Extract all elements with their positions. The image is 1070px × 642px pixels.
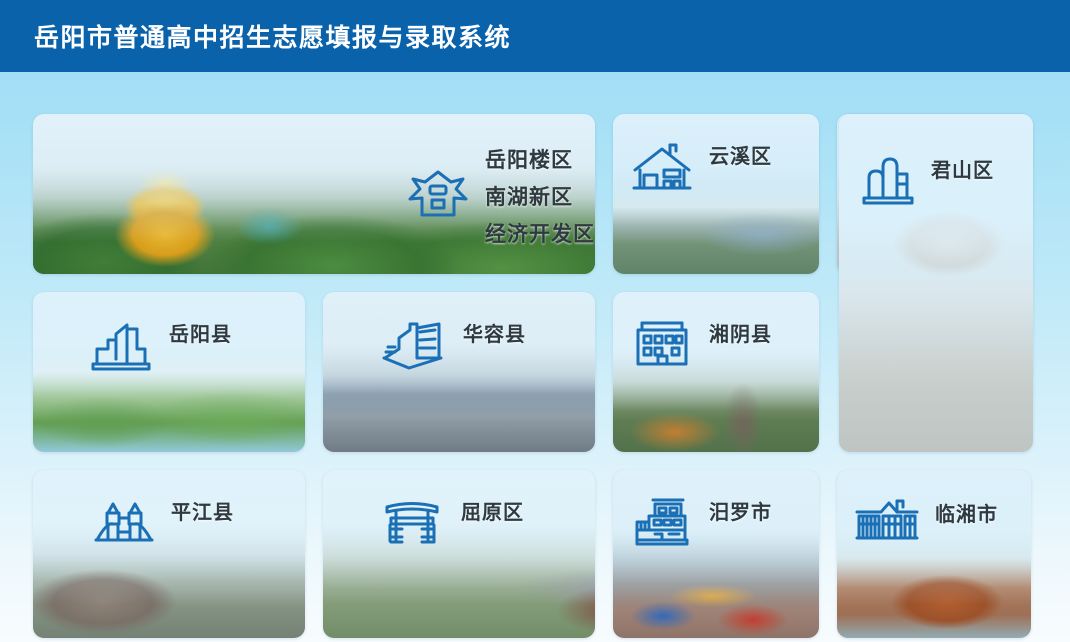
region-card-content: 湘阴县 [613,292,819,452]
page-title: 岳阳市普通高中招生志愿填报与录取系统 [34,18,511,54]
region-card-quyuan[interactable]: 屈原区 [323,470,595,638]
region-card-content: 临湘市 [837,470,1031,638]
house-icon [631,140,693,196]
region-label: 湘阴县 [709,318,772,347]
region-label: 岳阳县 [169,318,232,347]
region-label: 经济开发区 [485,218,595,248]
region-label-group: 岳阳楼区 南湖新区 经济开发区 [485,144,595,248]
region-card-content: 屈原区 [323,470,595,638]
region-label: 平江县 [171,496,234,525]
region-card-content: 汨罗市 [613,470,819,638]
region-card-yunxi[interactable]: 云溪区 [613,114,819,274]
region-card-miluo[interactable]: 汨罗市 [613,470,819,638]
industrial-building-icon [379,318,447,374]
region-card-linxiang[interactable]: 临湘市 [837,470,1031,638]
region-label-group: 屈原区 [461,496,524,525]
monument-stone-icon [861,154,915,206]
region-card-content: 平江县 [33,470,305,638]
region-card-content: 君山区 [839,114,1033,452]
region-label: 君山区 [931,154,994,183]
region-label: 屈原区 [461,496,524,525]
region-card-junshan-tall[interactable]: 君山区 [839,114,1033,452]
region-label: 汨罗市 [709,496,772,525]
region-label-group: 华容县 [463,318,526,347]
region-label: 云溪区 [709,140,772,169]
pagoda-tower-icon [407,169,469,223]
region-card-xiangyin[interactable]: 湘阴县 [613,292,819,452]
temple-roof-icon [855,498,919,546]
stepped-building-icon [631,496,693,548]
region-label: 南湖新区 [485,181,595,211]
region-label-group: 湘阴县 [709,318,772,347]
region-label: 华容县 [463,318,526,347]
region-card-yueyangxian[interactable]: 岳阳县 [33,292,305,452]
region-label: 岳阳楼区 [485,144,595,174]
region-card-content: 岳阳县 [33,292,305,452]
region-card-content: 岳阳楼区 南湖新区 经济开发区 [33,114,595,274]
region-card-content: 华容县 [323,292,595,452]
region-grid-row: 平江县 [33,470,1033,638]
office-building-icon [631,318,693,370]
region-label-group: 岳阳县 [169,318,232,347]
city-skyline-icon [91,318,153,374]
region-label-group: 云溪区 [709,140,772,169]
region-label-group: 君山区 [931,154,994,183]
site-header: 岳阳市普通高中招生志愿填报与录取系统 [0,0,1070,72]
region-label-group: 临湘市 [935,498,998,527]
region-grid: 岳阳楼区 南湖新区 经济开发区 [0,72,1070,642]
region-card-yueyanglou[interactable]: 岳阳楼区 南湖新区 经济开发区 [33,114,595,274]
bridge-icon [93,496,155,552]
region-label-group: 平江县 [171,496,234,525]
region-card-pingjiang[interactable]: 平江县 [33,470,305,638]
torii-gate-icon [379,496,445,550]
region-label-group: 汨罗市 [709,496,772,525]
region-card-huarong[interactable]: 华容县 [323,292,595,452]
region-label: 临湘市 [935,498,998,527]
region-card-content: 云溪区 [613,114,819,274]
